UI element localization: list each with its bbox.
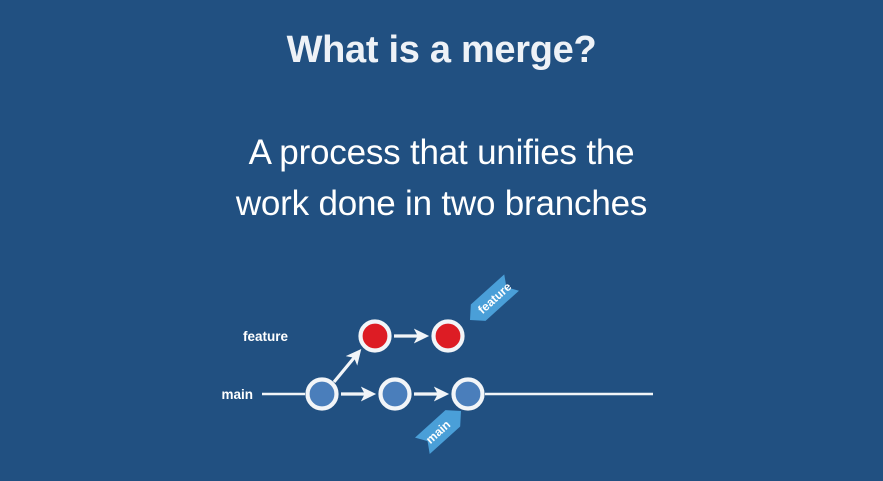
commit-node-feature-2[interactable] [434, 322, 463, 351]
branch-row-label-main: main [221, 387, 253, 402]
commit-node-main-3-merge[interactable] [454, 380, 483, 409]
commit-node-feature-1[interactable] [361, 322, 390, 351]
edge-m1-f1-branch [334, 353, 358, 382]
branch-tag-main[interactable]: main [415, 403, 468, 454]
slide-root: What is a merge? A process that unifies … [0, 0, 883, 481]
branch-row-label-feature: feature [243, 329, 289, 344]
branch-tag-feature[interactable]: feature [463, 274, 519, 328]
git-merge-diagram: feature main feature main [0, 0, 883, 481]
commit-node-main-2[interactable] [381, 380, 410, 409]
commit-node-main-1[interactable] [308, 380, 337, 409]
